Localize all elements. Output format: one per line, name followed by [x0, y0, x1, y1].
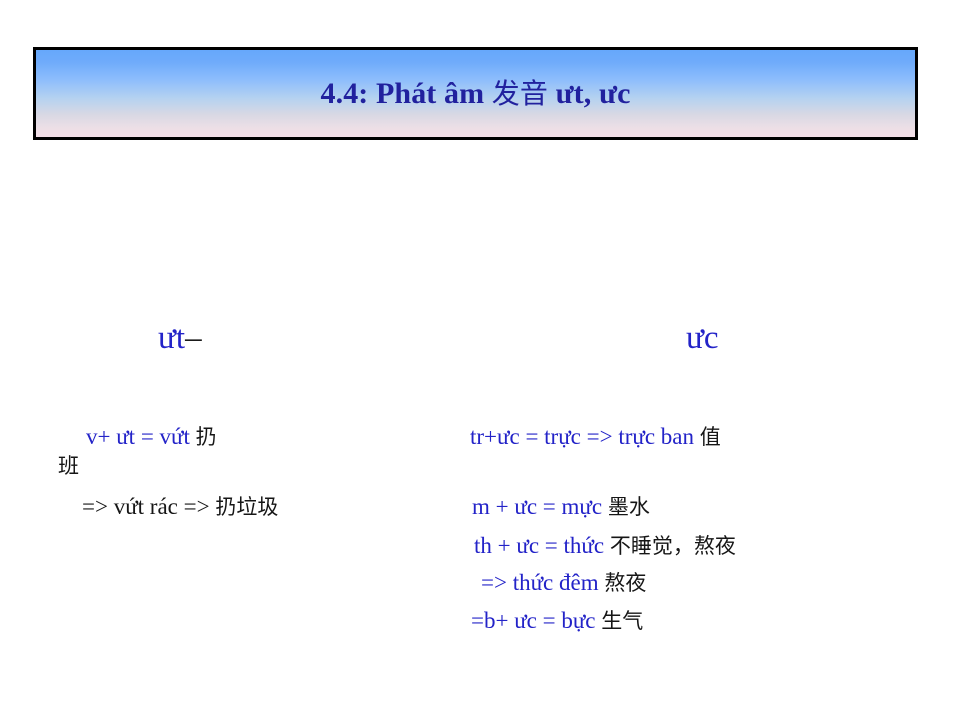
- page-title-han: 发音: [492, 77, 548, 110]
- uc-example-line-1-han: 值: [700, 425, 721, 449]
- uc-example-line-2-vi: m + ưc = mực: [472, 494, 608, 519]
- column-header-ut-label: ưt: [158, 320, 185, 356]
- uc-example-line-1-vi: tr+ưc = trực => trực ban: [470, 424, 700, 449]
- uc-example-line-3-vi: th + ưc = thức: [474, 533, 610, 558]
- uc-example-line-5-vi: =b+ ưc = bực: [471, 608, 601, 633]
- uc-example-line-2-han: 墨水: [608, 495, 650, 519]
- uc-example-line-4-han: 熬夜: [604, 571, 646, 595]
- uc-example-line-5: =b+ ưc = bực 生气: [471, 608, 643, 633]
- page-title-prefix: 4.4: Phát âm: [321, 77, 492, 110]
- column-header-uc-label: ưc: [686, 320, 719, 356]
- ut-example-line-1-han: 扔: [196, 425, 217, 449]
- page-title: 4.4: Phát âm 发音 ưt, ưc: [321, 79, 631, 109]
- ut-example-line-1-vi: v+ ưt = vứt: [86, 424, 196, 449]
- ut-example-line-3-vi: => vứt rác =>: [82, 494, 215, 519]
- uc-example-line-3: th + ưc = thức 不睡觉，熬夜: [474, 533, 736, 558]
- uc-example-line-4: => thức đêm 熬夜: [481, 570, 646, 595]
- ut-example-line-3-han: 扔垃圾: [215, 495, 278, 519]
- uc-example-line-2: m + ưc = mực 墨水: [472, 494, 650, 519]
- column-header-ut-dash: –: [185, 320, 202, 356]
- uc-example-line-1: tr+ưc = trực => trực ban 值: [470, 424, 721, 449]
- page-title-suffix: ưt, ưc: [548, 77, 631, 110]
- title-banner: 4.4: Phát âm 发音 ưt, ưc: [33, 47, 918, 140]
- ut-example-line-3: => vứt rác => 扔垃圾: [82, 494, 278, 519]
- uc-example-line-3-han: 不睡觉，熬夜: [610, 534, 736, 558]
- ut-example-line-2-han: 班: [58, 454, 79, 478]
- column-header-uc: ưc: [686, 322, 719, 355]
- column-header-ut: ưt–: [158, 322, 202, 355]
- ut-example-line-2: 班: [58, 453, 79, 478]
- uc-example-line-4-vi: => thức đêm: [481, 570, 604, 595]
- ut-example-line-1: v+ ưt = vứt 扔: [86, 424, 217, 449]
- uc-example-line-5-han: 生气: [601, 609, 643, 633]
